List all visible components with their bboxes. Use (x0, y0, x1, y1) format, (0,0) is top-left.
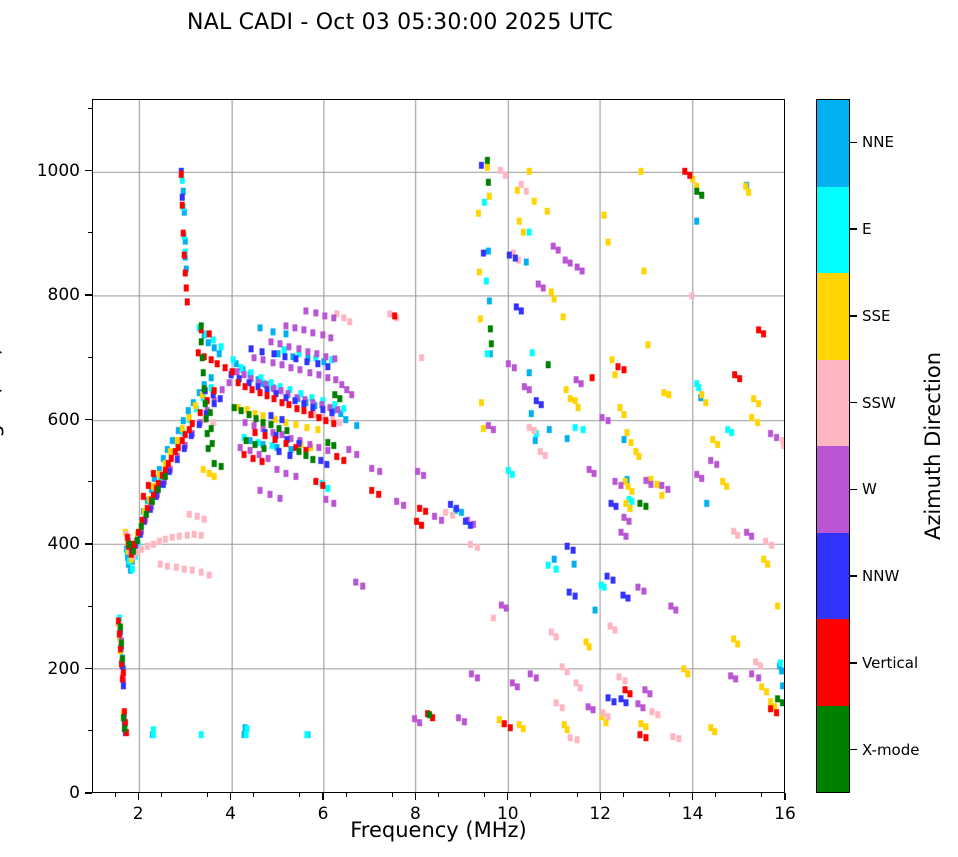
x-tick-major (600, 793, 601, 800)
x-tick-major (784, 793, 785, 800)
x-tick-major (507, 793, 508, 800)
x-tick-minor (761, 793, 762, 797)
y-tick-minor (88, 357, 92, 358)
colorbar-label-w: W (862, 480, 877, 498)
x-tick-minor (530, 793, 531, 797)
colorbar-segment-ssw[interactable] (817, 360, 849, 447)
colorbar-tick (850, 142, 857, 143)
y-tick-major (85, 792, 92, 793)
colorbar-segment-sse[interactable] (817, 273, 849, 360)
x-tick-minor (623, 793, 624, 797)
colorbar-tick (850, 575, 857, 576)
colorbar-label-vertical: Vertical (862, 654, 918, 672)
y-tick-major (85, 294, 92, 295)
colorbar-tick (850, 662, 857, 663)
y-tick-label: 800 (32, 285, 80, 305)
colorbar-label: Azimuth Direction (921, 246, 945, 646)
y-tick-label: 600 (32, 410, 80, 430)
y-axis-label: Virtual height (km) (0, 266, 4, 626)
colorbar-tick (850, 315, 857, 316)
x-tick-minor (161, 793, 162, 797)
colorbar-tick (850, 228, 857, 229)
x-tick-minor (253, 793, 254, 797)
y-tick-label: 0 (32, 783, 80, 803)
x-axis-label: Frequency (MHz) (92, 818, 785, 842)
y-tick-major (85, 419, 92, 420)
colorbar-segment-w[interactable] (817, 446, 849, 533)
colorbar-tick (850, 489, 857, 490)
colorbar-segment-nne[interactable] (817, 100, 849, 187)
x-tick-minor (299, 793, 300, 797)
x-tick-minor (438, 793, 439, 797)
y-tick-minor (88, 108, 92, 109)
colorbar-label-sse: SSE (862, 307, 891, 325)
y-tick-minor (88, 232, 92, 233)
colorbar-segment-e[interactable] (817, 187, 849, 274)
x-tick-minor (484, 793, 485, 797)
x-tick-minor (669, 793, 670, 797)
y-tick-major (85, 170, 92, 171)
x-tick-minor (577, 793, 578, 797)
colorbar-segment-vertical[interactable] (817, 619, 849, 706)
colorbar-gradient (816, 99, 850, 793)
ionogram-scatter (93, 100, 784, 792)
colorbar-segment-nnw[interactable] (817, 533, 849, 620)
y-tick-label: 400 (32, 534, 80, 554)
y-tick-minor (88, 730, 92, 731)
y-tick-major (85, 668, 92, 669)
colorbar-label-ssw: SSW (862, 394, 896, 412)
x-tick-major (692, 793, 693, 800)
colorbar[interactable]: NNEESSESSWWNNWVerticalX-mode (816, 99, 850, 793)
plot-area[interactable] (92, 99, 785, 793)
colorbar-segment-x-mode[interactable] (817, 706, 849, 793)
colorbar-label-nnw: NNW (862, 567, 899, 585)
colorbar-tick (850, 402, 857, 403)
colorbar-tick (850, 749, 857, 750)
colorbar-label-nne: NNE (862, 133, 894, 151)
x-tick-major (322, 793, 323, 800)
x-tick-minor (392, 793, 393, 797)
y-tick-minor (88, 481, 92, 482)
x-tick-minor (346, 793, 347, 797)
x-tick-minor (207, 793, 208, 797)
figure-canvas: NAL CADI - Oct 03 05:30:00 2025 UTC 2468… (0, 0, 958, 857)
y-tick-label: 200 (32, 659, 80, 679)
x-tick-major (230, 793, 231, 800)
y-tick-minor (88, 606, 92, 607)
x-tick-minor (115, 793, 116, 797)
y-tick-label: 1000 (32, 161, 80, 181)
colorbar-label-x-mode: X-mode (862, 741, 919, 759)
x-tick-minor (715, 793, 716, 797)
chart-title: NAL CADI - Oct 03 05:30:00 2025 UTC (0, 10, 800, 35)
y-tick-major (85, 543, 92, 544)
x-tick-major (138, 793, 139, 800)
x-tick-major (415, 793, 416, 800)
colorbar-label-e: E (862, 220, 871, 238)
